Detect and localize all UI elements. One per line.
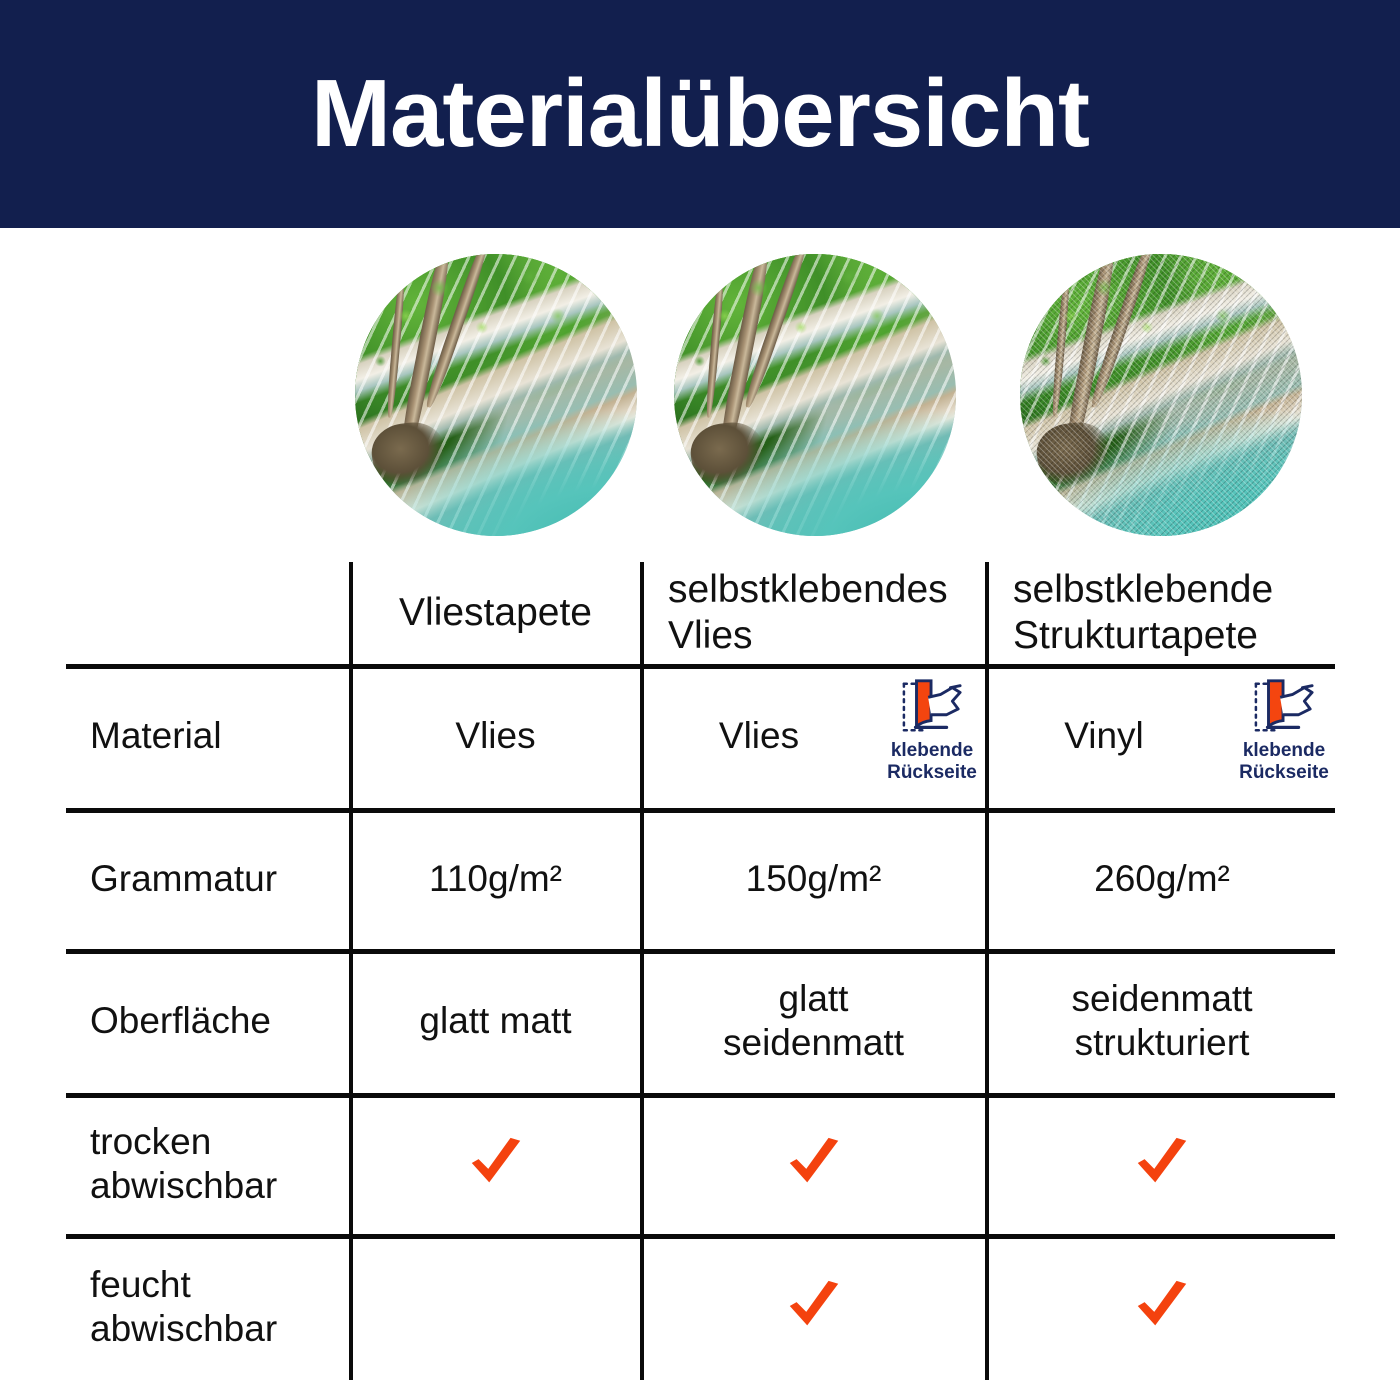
badge-label-col-3: klebendeRückseite [1239,740,1329,785]
cell-material-col-2: Vlies [644,664,874,808]
cell-grammatur-col-2: 150g/m² [644,808,983,949]
cell-trocken-col-2 [644,1093,983,1234]
cell-feucht-col-2 [644,1234,983,1380]
checkmark-icon [783,1133,845,1195]
table-header-col-3: selbstklebende Strukturtapete [989,562,1363,664]
row-label-feucht-abwischbar: feucht abwischbar [66,1234,373,1380]
cell-material-col-1: Vlies [353,664,638,808]
adhesive-backing-badge-col-3: klebendeRückseite [1230,676,1338,785]
cell-grammatur-col-3: 260g/m² [989,808,1335,949]
badge-label-col-2: klebendeRückseite [887,740,977,785]
cell-material-col-3: Vinyl [989,664,1219,808]
cell-feucht-col-1 [353,1234,638,1380]
checkmark-icon [1131,1276,1193,1338]
cell-trocken-col-3 [989,1093,1335,1234]
peeling-adhesive-backing-icon [896,676,968,738]
table-header-col-1: Vliestapete [353,562,638,664]
peeling-adhesive-backing-icon [1248,676,1320,738]
adhesive-backing-badge-col-2: klebendeRückseite [878,676,986,785]
row-label-material: Material [66,664,373,808]
material-comparison-table: Vliestapete selbstklebendes Vlies selbst… [0,0,1400,1400]
checkmark-icon [783,1276,845,1338]
cell-trocken-col-1 [353,1093,638,1234]
cell-grammatur-col-1: 110g/m² [353,808,638,949]
checkmark-icon [1131,1133,1193,1195]
row-label-trocken-abwischbar: trocken abwischbar [66,1093,373,1234]
cell-oberflaeche-col-2: glatt seidenmatt [644,949,983,1093]
cell-oberflaeche-col-1: glatt matt [353,949,638,1093]
cell-oberflaeche-col-3: seidenmatt strukturiert [989,949,1335,1093]
row-label-grammatur: Grammatur [66,808,373,949]
checkmark-icon [465,1133,527,1195]
table-header-col-2: selbstklebendes Vlies [644,562,1008,664]
cell-feucht-col-3 [989,1234,1335,1380]
row-label-oberflaeche: Oberfläche [66,949,373,1093]
